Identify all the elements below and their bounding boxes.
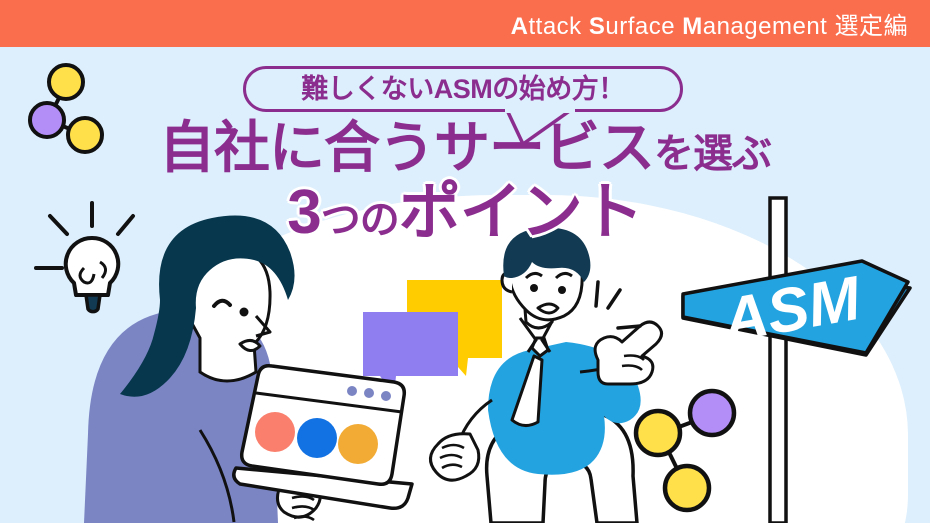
callout-bubble: 難しくないASMの始め方！ — [243, 66, 683, 112]
poster-canvas: Attack Surface Management 選定編 難しくないASMの始… — [0, 0, 930, 523]
headline-line-1: 自社に合うサービスを選ぶ — [0, 120, 930, 176]
laptop-content-dot-blue — [297, 418, 337, 458]
laptop-content-dot-red — [255, 412, 295, 452]
man-character — [430, 228, 661, 523]
signpost-pole — [770, 198, 786, 523]
headline-line-1-main: 自社に合うサービス — [159, 116, 654, 179]
callout-text: 難しくないASMの始め方！ — [301, 76, 625, 103]
signpost-asm-sign: ASM — [683, 261, 910, 356]
headline-line-2-number: 3 — [287, 178, 320, 247]
headline-line-2-suffix: ポイント — [399, 178, 643, 247]
headline-line-2-mid: つの — [321, 198, 399, 242]
headline-block: 自社に合うサービスを選ぶ 3つのポイント — [0, 120, 930, 244]
headline-line-2: 3つのポイント — [0, 182, 930, 244]
network-bottom-right-icon — [636, 391, 734, 510]
headline-line-1-suffix: を選ぶ — [654, 132, 771, 176]
laptop-titlebar-dot-1 — [347, 386, 357, 396]
laptop-titlebar-dot-2 — [364, 388, 374, 398]
laptop-titlebar-dot-3 — [381, 391, 391, 401]
laptop-content-dot-orange — [338, 424, 378, 464]
laptop — [234, 366, 412, 509]
